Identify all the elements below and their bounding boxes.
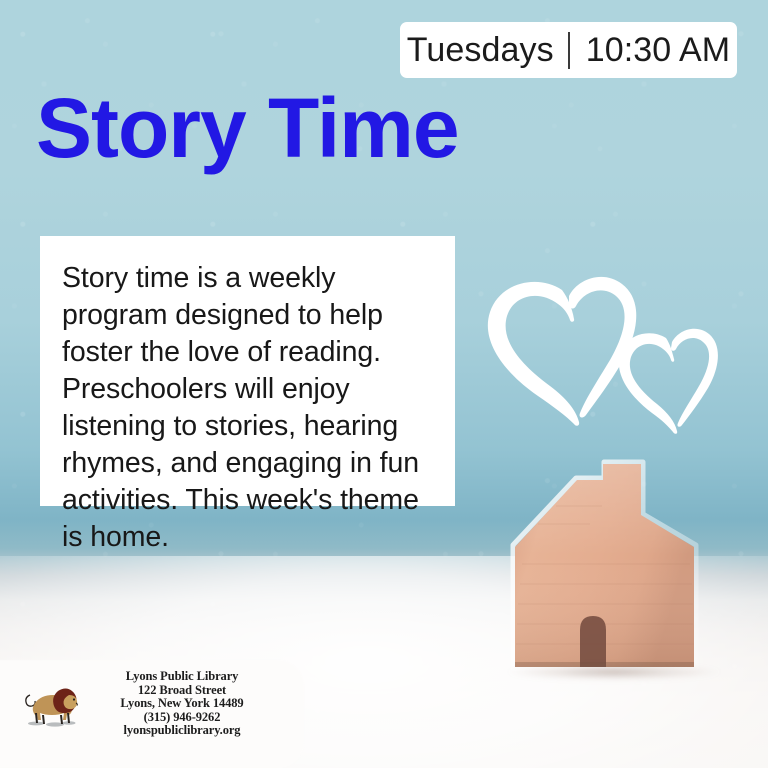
lion-tail — [26, 695, 35, 706]
footer-line-name: Lyons Public Library — [90, 670, 274, 684]
house-door — [580, 616, 606, 667]
footer-line-phone: (315) 946-9262 — [90, 711, 274, 725]
lion-eye — [73, 698, 75, 700]
footer-line-street: 122 Broad Street — [90, 684, 274, 698]
description-text: Story time is a weekly program designed … — [62, 260, 442, 556]
lion-logo-svg — [22, 673, 84, 735]
wooden-house — [498, 452, 738, 684]
footer-line-city: Lyons, New York 14489 — [90, 697, 274, 711]
footer: Lyons Public Library 122 Broad Street Ly… — [22, 664, 274, 744]
wooden-house-svg — [498, 452, 738, 684]
description-card: Story time is a weekly program designed … — [40, 236, 455, 506]
schedule-badge: Tuesdays 10:30 AM — [400, 22, 737, 78]
badge-day-label: Tuesdays — [407, 33, 568, 67]
page-title: Story Time — [36, 86, 459, 170]
house-shadow — [506, 664, 722, 680]
story-time-poster: Tuesdays 10:30 AM Story Time Story time … — [0, 0, 768, 768]
footer-line-website: lyonspubliclibrary.org — [90, 724, 274, 738]
badge-time-label: 10:30 AM — [570, 33, 730, 67]
lion-logo-icon — [22, 673, 84, 735]
footer-address-block: Lyons Public Library 122 Broad Street Ly… — [90, 670, 274, 738]
